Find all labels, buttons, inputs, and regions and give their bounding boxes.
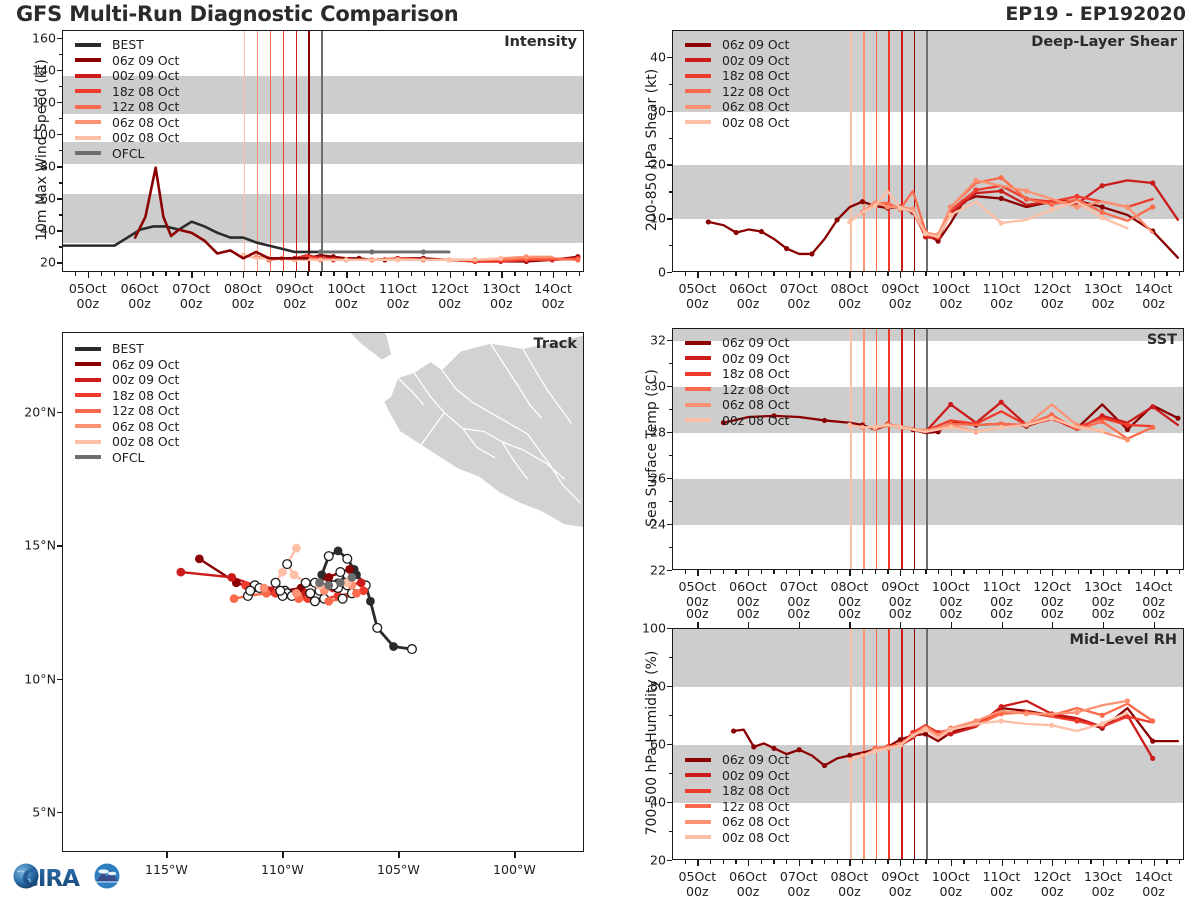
x-minor-tick — [887, 570, 888, 574]
y-minor-tick — [669, 715, 672, 716]
page-title: GFS Multi-Run Diagnostic Comparison — [16, 2, 458, 26]
legend-item: 06z 08 Oct — [75, 115, 179, 131]
x-tick-mark-top — [697, 622, 698, 628]
legend-swatch-06z-08-oct — [75, 120, 101, 124]
x-minor-tick — [710, 570, 711, 574]
legend-swatch-06z-09-oct — [685, 341, 711, 345]
track-marker — [345, 565, 354, 574]
x-minor-tick — [475, 272, 476, 276]
data-point — [1100, 713, 1105, 718]
legend-swatch-18z-08-oct — [685, 74, 711, 78]
track-marker — [311, 597, 320, 606]
x-minor-tick — [1078, 860, 1079, 864]
legend-swatch-00z-08-oct — [685, 120, 711, 124]
y-tick-mark — [667, 272, 672, 273]
legend-item: BEST — [75, 37, 179, 53]
track-marker — [334, 546, 343, 555]
track-marker — [292, 544, 301, 553]
cira-badge-icon — [95, 864, 120, 889]
x-minor-tick — [837, 860, 838, 864]
x-tick-label-top: 00z — [787, 606, 810, 621]
x-tick-label: 09Oct00z — [881, 579, 919, 609]
x-tick-label: 12Oct00z — [1033, 579, 1071, 609]
x-tick-label: 14Oct00z — [1135, 869, 1173, 899]
track-marker — [336, 578, 345, 587]
x-tick-label: 06Oct00z — [729, 869, 767, 899]
legend-item: 12z 08 Oct — [685, 84, 789, 100]
x-minor-tick — [204, 272, 205, 276]
x-minor-tick — [411, 272, 412, 276]
track-marker — [283, 560, 292, 569]
y-minor-tick — [669, 84, 672, 85]
x-minor-tick — [579, 272, 580, 276]
legend-swatch-06z-08-oct — [685, 820, 711, 824]
x-minor-tick — [913, 570, 914, 574]
x-tick-label: 07Oct00z — [780, 869, 818, 899]
data-point — [1150, 756, 1155, 761]
y-tick-mark — [57, 102, 62, 103]
data-point — [1150, 404, 1155, 409]
legend-item: 06z 09 Oct — [685, 335, 789, 351]
x-minor-tick — [761, 570, 762, 574]
data-point — [369, 249, 374, 254]
data-point — [847, 757, 852, 762]
x-minor-tick — [165, 272, 166, 276]
x-tick-mark — [799, 570, 800, 576]
x-minor-tick — [837, 272, 838, 276]
data-point — [1074, 194, 1079, 199]
lat-tick-mark — [57, 412, 62, 413]
x-tick-label: 07Oct00z — [172, 281, 210, 311]
x-minor-tick — [1116, 860, 1117, 864]
x-minor-tick — [786, 272, 787, 276]
y-tick-mark — [57, 134, 62, 135]
data-point — [318, 249, 323, 254]
data-point — [999, 704, 1004, 709]
x-minor-tick — [925, 860, 926, 864]
data-point — [1100, 210, 1105, 215]
data-point — [1150, 425, 1155, 430]
x-minor-tick — [723, 860, 724, 864]
lat-tick-mark — [57, 679, 62, 680]
data-point — [999, 196, 1004, 201]
panel-title-mid-level-rh: Mid-Level RH — [1070, 632, 1177, 648]
data-point — [948, 402, 953, 407]
lon-tick-mark — [166, 852, 167, 858]
x-tick-mark-top — [1052, 622, 1053, 628]
x-tick-mark — [900, 570, 901, 576]
legend-item: 00z 09 Oct — [75, 372, 179, 388]
x-minor-tick — [269, 272, 270, 276]
data-point — [797, 747, 802, 752]
x-tick-label: 12Oct00z — [1033, 281, 1071, 311]
x-minor-tick — [811, 860, 812, 864]
legend-item: OFCL — [75, 146, 179, 162]
x-tick-mark-top — [1002, 622, 1003, 628]
legend-label: 06z 08 Oct — [112, 115, 179, 130]
x-minor-tick — [75, 272, 76, 276]
legend-label: OFCL — [112, 146, 144, 161]
data-point — [1100, 204, 1105, 209]
legend-item: 00z 08 Oct — [75, 434, 179, 450]
legend-item: 00z 09 Oct — [685, 53, 789, 69]
legend-swatch-12z-08-oct — [685, 804, 711, 808]
legend-label: 00z 09 Oct — [722, 768, 789, 783]
x-tick-mark — [849, 570, 850, 576]
y-axis-label-mid-level-rh: 700-500 hPa Humidity (%) — [644, 463, 660, 900]
legend-label: 00z 08 Oct — [722, 413, 789, 428]
legend-label: OFCL — [112, 450, 144, 465]
x-minor-tick — [282, 272, 283, 276]
legend-swatch-06z-09-oct — [685, 43, 711, 47]
y-tick-mark — [667, 802, 672, 803]
legend-label: 00z 08 Oct — [112, 130, 179, 145]
series-line-best — [63, 222, 449, 252]
x-tick-mark-top — [951, 622, 952, 628]
x-tick-label: 13Oct00z — [1084, 579, 1122, 609]
x-tick-mark — [1154, 860, 1155, 866]
legend-label: 00z 09 Oct — [112, 68, 179, 83]
x-tick-mark — [1154, 570, 1155, 576]
y-tick-mark — [667, 628, 672, 629]
legend-label: 12z 08 Oct — [722, 799, 789, 814]
x-tick-mark — [849, 272, 850, 278]
x-minor-tick — [824, 570, 825, 574]
legend-swatch-00z-09-oct — [75, 74, 101, 78]
cira-logo: CIRA — [6, 856, 128, 896]
x-tick-label: 05Oct00z — [678, 869, 716, 899]
x-tick-mark — [697, 860, 698, 866]
x-minor-tick — [1116, 272, 1117, 276]
x-minor-tick — [540, 272, 541, 276]
y-minor-tick — [669, 191, 672, 192]
legend-label: 18z 08 Oct — [722, 783, 789, 798]
x-tick-label: 11Oct00z — [379, 281, 417, 311]
series-line-06z-08-oct — [862, 404, 1127, 439]
panel-title-sst: SST — [1147, 332, 1177, 348]
track-marker — [343, 554, 352, 563]
x-tick-mark — [1052, 570, 1053, 576]
x-minor-tick — [938, 570, 939, 574]
y-minor-tick — [59, 118, 62, 119]
legend-swatch-00z-08-oct — [75, 136, 101, 140]
data-point — [1049, 202, 1054, 207]
plot-area-track: TrackBEST06z 09 Oct00z 09 Oct18z 08 Oct1… — [62, 332, 584, 852]
legend-label: 06z 09 Oct — [722, 37, 789, 52]
panel-sst: SST06z 09 Oct00z 09 Oct18z 08 Oct12z 08 … — [672, 328, 1184, 570]
x-tick-mark — [346, 272, 347, 278]
y-tick-mark — [57, 38, 62, 39]
x-minor-tick — [685, 860, 686, 864]
x-minor-tick — [1166, 570, 1167, 574]
x-minor-tick — [875, 860, 876, 864]
lon-tick-label: 115°W — [145, 862, 188, 877]
x-minor-tick — [862, 272, 863, 276]
legend-label: 18z 08 Oct — [112, 388, 179, 403]
y-tick-mark — [57, 166, 62, 167]
legend-label: 06z 08 Oct — [722, 397, 789, 412]
x-minor-tick — [811, 272, 812, 276]
legend-swatch-00z-09-oct — [685, 773, 711, 777]
x-tick-mark — [951, 570, 952, 576]
x-minor-tick — [925, 272, 926, 276]
x-minor-tick — [723, 272, 724, 276]
x-minor-tick — [773, 860, 774, 864]
x-minor-tick — [989, 860, 990, 864]
y-tick-mark — [667, 164, 672, 165]
legend-swatch-06z-08-oct — [685, 403, 711, 407]
legend-item: 06z 09 Oct — [685, 37, 789, 53]
legend-item: 18z 08 Oct — [75, 84, 179, 100]
legend-item: 18z 08 Oct — [685, 68, 789, 84]
x-minor-tick — [527, 272, 528, 276]
y-tick-mark — [667, 860, 672, 861]
x-tick-label: 11Oct00z — [983, 281, 1021, 311]
x-tick-label: 11Oct00z — [983, 869, 1021, 899]
track-marker — [373, 623, 382, 632]
track-marker — [336, 568, 345, 577]
data-point — [898, 425, 903, 430]
legend-item: 00z 08 Oct — [685, 830, 789, 846]
lat-tick-label: 10°N — [0, 671, 56, 686]
track-marker — [408, 645, 417, 654]
legend-swatch-00z-08-oct — [685, 835, 711, 839]
legend-swatch-00z-08-oct — [75, 440, 101, 444]
legend-swatch-18z-08-oct — [75, 393, 101, 397]
x-minor-tick — [925, 570, 926, 574]
y-tick-mark — [57, 70, 62, 71]
x-tick-mark-top — [900, 622, 901, 628]
legend-label: 18z 08 Oct — [112, 84, 179, 99]
data-point — [872, 203, 877, 208]
data-point — [923, 727, 928, 732]
data-point — [1125, 698, 1130, 703]
x-minor-tick — [938, 860, 939, 864]
legend-item: 12z 08 Oct — [685, 799, 789, 815]
x-minor-tick — [1128, 570, 1129, 574]
lat-tick-label: 20°N — [0, 405, 56, 420]
x-minor-tick — [963, 860, 964, 864]
data-point — [759, 229, 764, 234]
x-tick-label: 11Oct00z — [983, 579, 1021, 609]
x-minor-tick — [1116, 570, 1117, 574]
x-minor-tick — [1179, 272, 1180, 276]
data-point — [706, 219, 711, 224]
track-marker — [230, 594, 239, 603]
x-minor-tick — [333, 272, 334, 276]
data-point — [1175, 416, 1180, 421]
plot-area-deep-layer-shear: Deep-Layer Shear06z 09 Oct00z 09 Oct18z … — [672, 30, 1184, 272]
x-minor-tick — [307, 272, 308, 276]
data-point — [885, 204, 890, 209]
legend-item: 06z 09 Oct — [685, 752, 789, 768]
legend-swatch-best — [75, 347, 101, 351]
y-tick-mark — [667, 57, 672, 58]
legend-label: 06z 09 Oct — [722, 752, 789, 767]
x-minor-tick — [963, 272, 964, 276]
track-marker — [271, 578, 280, 587]
x-tick-label-top: 00z — [1142, 606, 1165, 621]
x-minor-tick — [256, 272, 257, 276]
data-point — [575, 257, 580, 262]
x-tick-mark-top — [1103, 622, 1104, 628]
x-minor-tick — [824, 860, 825, 864]
x-tick-mark-top — [748, 622, 749, 628]
legend-swatch-00z-09-oct — [685, 356, 711, 360]
panel-intensity: IntensityBEST06z 09 Oct00z 09 Oct18z 08 … — [62, 30, 584, 272]
x-tick-label: 06Oct00z — [121, 281, 159, 311]
y-minor-tick — [59, 246, 62, 247]
x-minor-tick — [875, 570, 876, 574]
y-tick-mark — [667, 478, 672, 479]
data-point — [822, 418, 827, 423]
x-tick-label: 08Oct00z — [224, 281, 262, 311]
y-tick-mark — [667, 340, 672, 341]
x-tick-label-top: 00z — [990, 606, 1013, 621]
track-marker — [357, 578, 366, 587]
x-minor-tick — [1128, 860, 1129, 864]
legend-swatch-12z-08-oct — [75, 409, 101, 413]
x-tick-mark — [951, 272, 952, 278]
x-tick-mark — [748, 272, 749, 278]
x-tick-label: 10Oct00z — [932, 579, 970, 609]
x-tick-mark — [295, 272, 296, 278]
panel-title-intensity: Intensity — [504, 34, 577, 50]
legend-label: 06z 09 Oct — [112, 357, 179, 372]
x-tick-mark — [243, 272, 244, 278]
x-minor-tick — [887, 272, 888, 276]
y-tick-mark — [667, 570, 672, 571]
legend-swatch-06z-09-oct — [685, 758, 711, 762]
panel-title-track: Track — [534, 336, 577, 352]
x-minor-tick — [773, 570, 774, 574]
legend-item: 06z 08 Oct — [685, 814, 789, 830]
track-marker — [338, 594, 347, 603]
legend-item: 00z 08 Oct — [75, 130, 179, 146]
legend-item: BEST — [75, 341, 179, 357]
x-minor-tick — [786, 860, 787, 864]
legend-item: 00z 09 Oct — [75, 68, 179, 84]
x-tick-mark — [1103, 570, 1104, 576]
data-point — [948, 212, 953, 217]
data-point — [1024, 711, 1029, 716]
x-tick-mark — [1002, 570, 1003, 576]
x-minor-tick — [437, 272, 438, 276]
legend-label: 06z 08 Oct — [722, 814, 789, 829]
legend-item: 18z 08 Oct — [685, 783, 789, 799]
x-minor-tick — [488, 272, 489, 276]
panel-title-deep-layer-shear: Deep-Layer Shear — [1031, 34, 1177, 50]
data-point — [872, 749, 877, 754]
y-minor-tick — [669, 831, 672, 832]
lon-tick-label: 110°W — [261, 862, 304, 877]
x-minor-tick — [114, 272, 115, 276]
x-minor-tick — [178, 272, 179, 276]
data-point — [1125, 427, 1130, 432]
x-minor-tick — [1090, 272, 1091, 276]
legend-item: 06z 08 Oct — [685, 99, 789, 115]
legend-item: 18z 08 Oct — [685, 366, 789, 382]
x-minor-tick — [761, 860, 762, 864]
data-point — [1074, 718, 1079, 723]
legend-swatch-18z-08-oct — [685, 372, 711, 376]
data-point — [1150, 180, 1155, 185]
svg-text:CIRA: CIRA — [22, 866, 80, 892]
x-tick-label: 06Oct00z — [729, 579, 767, 609]
plot-area-intensity: IntensityBEST06z 09 Oct00z 09 Oct18z 08 … — [62, 30, 584, 272]
x-minor-tick — [1014, 860, 1015, 864]
x-minor-tick — [1166, 272, 1167, 276]
legend-label: 00z 08 Oct — [722, 115, 789, 130]
data-point — [1074, 710, 1079, 715]
x-minor-tick — [685, 570, 686, 574]
x-minor-tick — [710, 272, 711, 276]
track-marker — [324, 573, 333, 582]
track-marker — [176, 568, 185, 577]
x-tick-label: 12Oct00z — [431, 281, 469, 311]
x-minor-tick — [1141, 570, 1142, 574]
y-minor-tick — [669, 455, 672, 456]
x-minor-tick — [1065, 860, 1066, 864]
track-marker — [260, 584, 269, 593]
data-point — [999, 400, 1004, 405]
data-point — [1150, 204, 1155, 209]
track-marker — [290, 570, 299, 579]
x-minor-tick — [963, 570, 964, 574]
panel-rh: Mid-Level RH06z 09 Oct00z 09 Oct18z 08 O… — [672, 628, 1184, 860]
data-point — [344, 257, 349, 262]
data-point — [847, 422, 852, 427]
legend-item: 06z 09 Oct — [75, 357, 179, 373]
series-line-12z-08-oct — [875, 178, 1153, 238]
x-tick-label: 10Oct00z — [932, 869, 970, 899]
data-point — [1049, 416, 1054, 421]
x-tick-label: 10Oct00z — [327, 281, 365, 311]
x-tick-label-top: 00z — [1092, 606, 1115, 621]
legend-swatch-06z-09-oct — [75, 362, 101, 366]
data-point — [822, 763, 827, 768]
data-point — [1049, 723, 1054, 728]
data-point — [835, 217, 840, 222]
x-tick-mark-top — [849, 622, 850, 628]
y-tick-mark — [57, 198, 62, 199]
y-minor-tick — [669, 773, 672, 774]
lon-tick-mark — [282, 852, 283, 858]
x-minor-tick — [723, 570, 724, 574]
x-minor-tick — [824, 272, 825, 276]
x-tick-label: 10Oct00z — [932, 281, 970, 311]
legend-swatch-12z-08-oct — [75, 105, 101, 109]
lon-tick-mark — [398, 852, 399, 858]
x-tick-mark — [1052, 860, 1053, 866]
lat-tick-mark — [57, 545, 62, 546]
x-minor-tick — [735, 272, 736, 276]
x-minor-tick — [1065, 570, 1066, 574]
panel-track: TrackBEST06z 09 Oct00z 09 Oct18z 08 Oct1… — [62, 332, 584, 852]
x-tick-mark — [1002, 272, 1003, 278]
landmass-northwest — [155, 333, 391, 360]
data-point — [771, 746, 776, 751]
legend-label: 06z 08 Oct — [722, 99, 789, 114]
x-tick-label: 13Oct00z — [1084, 869, 1122, 899]
x-minor-tick — [1141, 272, 1142, 276]
x-tick-label: 09Oct00z — [276, 281, 314, 311]
x-tick-label-top: 00z — [737, 606, 760, 621]
track-marker — [301, 578, 310, 587]
x-minor-tick — [786, 570, 787, 574]
x-minor-tick — [1014, 570, 1015, 574]
track-marker — [292, 589, 301, 598]
